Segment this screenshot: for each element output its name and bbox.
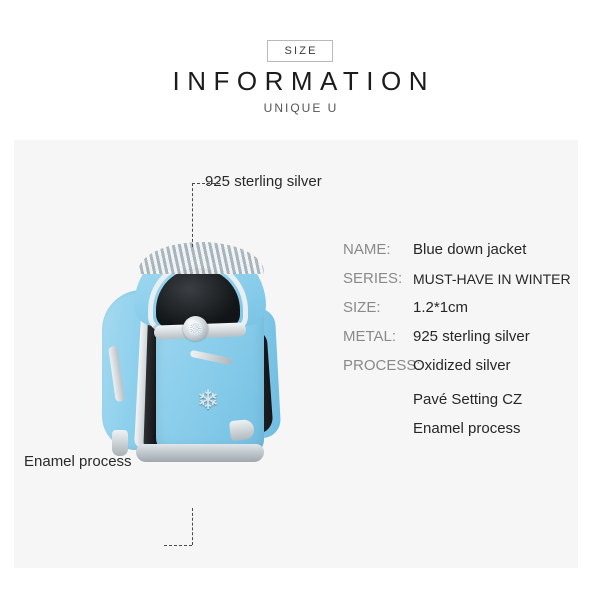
page-subtitle: UNIQUE U — [0, 101, 600, 115]
leader-line-top-vertical — [192, 183, 193, 247]
page-title: INFORMATION — [0, 66, 600, 97]
charm-silver-base — [136, 444, 264, 462]
spec-value-series: MUST-HAVE IN WINTER — [413, 269, 571, 289]
snowflake-icon: ❄ — [194, 386, 222, 414]
spec-process-line-2: Pavé Setting CZ — [413, 385, 583, 414]
annotation-top-label: 925 sterling silver — [205, 173, 322, 190]
spec-row-metal: METAL: 925 sterling silver — [343, 327, 583, 356]
spec-row-process: PROCESS: Oxidized silver — [343, 356, 583, 385]
content-panel: ❄ 925 sterling silver Enamel process NAM… — [14, 140, 578, 568]
spec-label-series: SERIES: — [343, 269, 413, 289]
product-image: ❄ — [74, 220, 324, 480]
page-header: SIZE INFORMATION UNIQUE U — [0, 0, 600, 140]
spec-value-name: Blue down jacket — [413, 240, 526, 260]
charm-illustration: ❄ — [94, 238, 284, 468]
spec-row-name: NAME: Blue down jacket — [343, 240, 583, 269]
spec-label-name: NAME: — [343, 240, 413, 260]
spec-label-size: SIZE: — [343, 298, 413, 318]
annotation-bottom-label: Enamel process — [24, 453, 132, 470]
fur-trim — [138, 240, 264, 274]
spec-row-size: SIZE: 1.2*1cm — [343, 298, 583, 327]
spec-label-metal: METAL: — [343, 327, 413, 347]
spec-list: NAME: Blue down jacket SERIES: MUST-HAVE… — [343, 240, 583, 443]
spec-value-metal: 925 sterling silver — [413, 327, 530, 347]
leader-line-bottom-horizontal — [164, 545, 192, 546]
spec-row-series: SERIES: MUST-HAVE IN WINTER — [343, 269, 583, 298]
spec-value-size: 1.2*1cm — [413, 298, 468, 318]
cz-gem — [188, 321, 203, 336]
spec-process-line-3: Enamel process — [413, 414, 583, 443]
spec-label-process: PROCESS: — [343, 356, 413, 376]
size-badge: SIZE — [267, 40, 333, 62]
cz-stone-icon — [183, 316, 208, 341]
leader-line-bottom-vertical — [192, 508, 193, 545]
spec-value-process: Oxidized silver — [413, 356, 511, 376]
